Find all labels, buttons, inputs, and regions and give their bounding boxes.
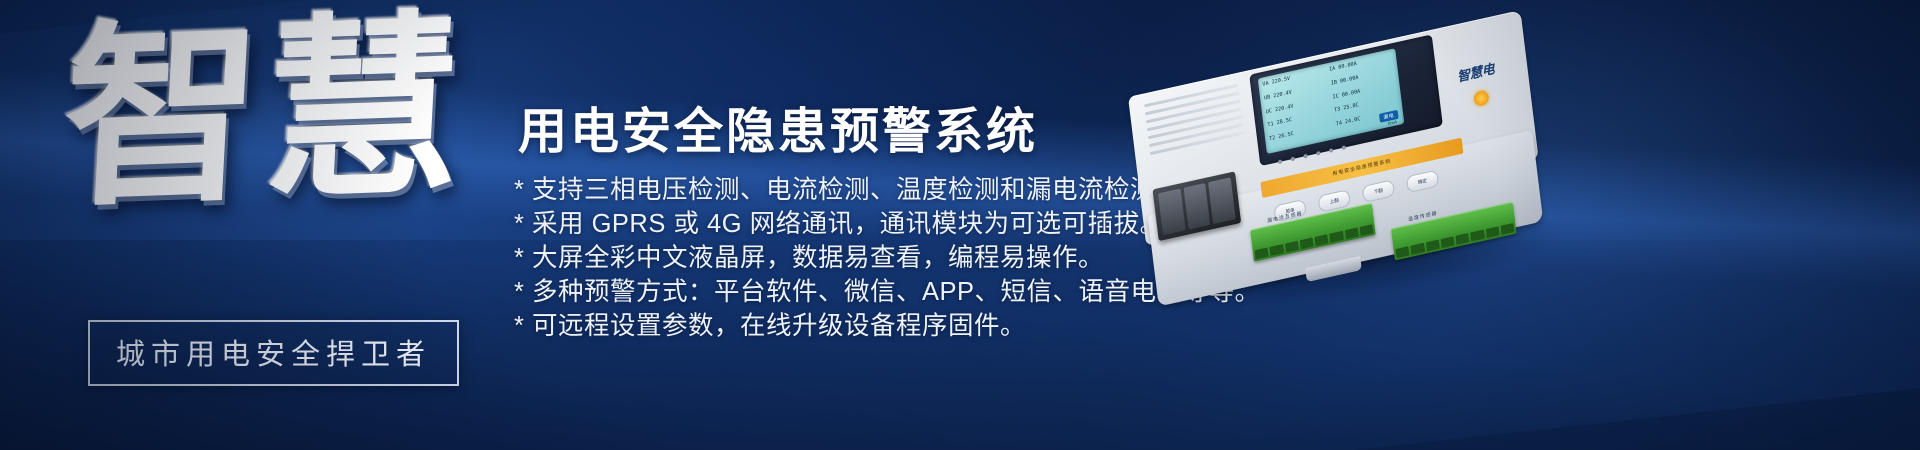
ok-button[interactable]: 确定 bbox=[1406, 169, 1439, 193]
led-indicator bbox=[1278, 159, 1282, 164]
led-indicator bbox=[1303, 154, 1307, 159]
lcd-status-value: 0mA bbox=[1387, 119, 1397, 126]
led-indicator bbox=[1342, 145, 1346, 150]
led-indicator bbox=[1316, 151, 1320, 156]
down-button[interactable]: 下翻 bbox=[1362, 179, 1395, 203]
promo-banner: 智慧 城市用电安全捍卫者 用电安全隐患预警系统 * 支持三相电压检测、电流检测、… bbox=[0, 0, 1920, 450]
product-device-image: UA 220.5V IA 00.00A UB 220.4V IB 00.00A … bbox=[1067, 0, 1622, 372]
tagline-box: 城市用电安全捍卫者 bbox=[88, 320, 459, 386]
led-indicator bbox=[1291, 157, 1295, 162]
page-title: 用电安全隐患预警系统 bbox=[518, 92, 1038, 163]
calligraphy-title: 智慧 bbox=[54, 7, 490, 311]
led-indicator bbox=[1329, 148, 1333, 153]
